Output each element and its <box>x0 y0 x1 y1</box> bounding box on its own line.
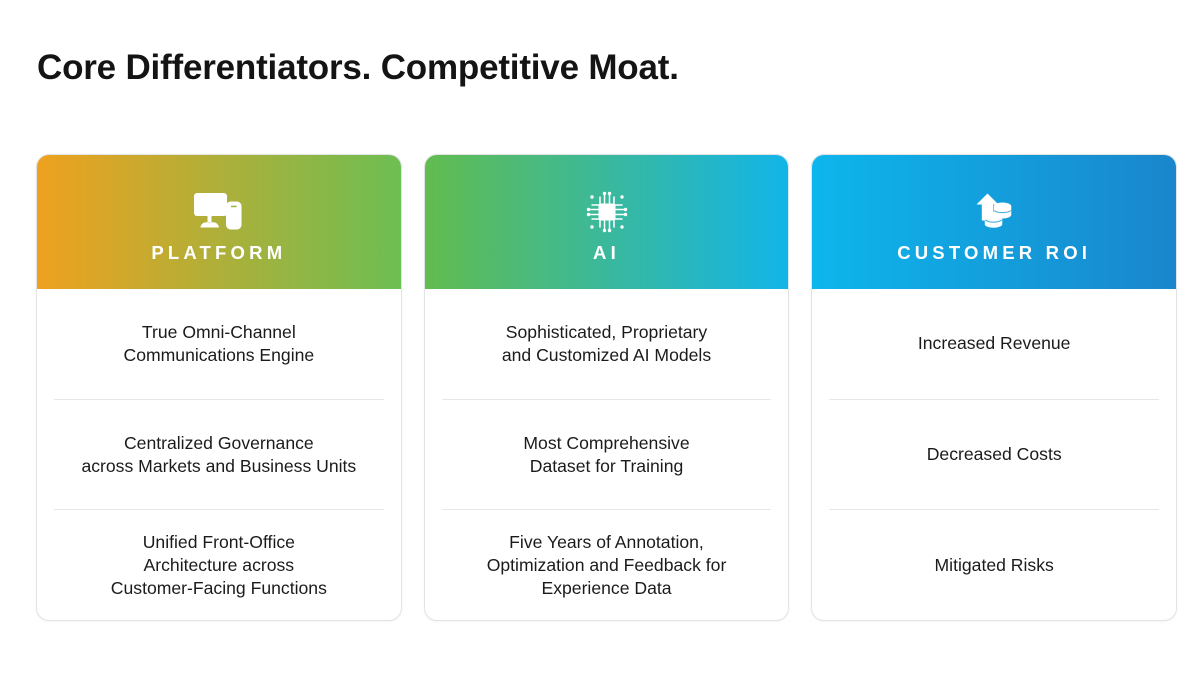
card-platform-body: True Omni-ChannelCommunications Engine C… <box>37 289 401 620</box>
card-platform-item-3-text: Unified Front-OfficeArchitecture acrossC… <box>111 531 327 600</box>
card-platform[interactable]: PLATFORM True Omni-ChannelCommunications… <box>36 154 402 621</box>
card-platform-item-1: True Omni-ChannelCommunications Engine <box>54 289 384 399</box>
card-customer-roi-item-3-text: Mitigated Risks <box>935 554 1054 577</box>
card-platform-item-1-text: True Omni-ChannelCommunications Engine <box>123 321 314 367</box>
microchip-ai-icon <box>584 189 630 235</box>
card-customer-roi-item-2-text: Decreased Costs <box>927 443 1062 466</box>
card-ai-body: Sophisticated, Proprietaryand Customized… <box>425 289 789 620</box>
card-customer-roi-header: CUSTOMER ROI <box>812 155 1176 289</box>
desktop-mobile-devices-icon <box>192 189 246 235</box>
slide-canvas: Core Differentiators. Competitive Moat. <box>0 0 1200 675</box>
card-customer-roi-item-1: Increased Revenue <box>829 289 1159 399</box>
differentiator-card-row: PLATFORM True Omni-ChannelCommunications… <box>36 154 1177 621</box>
card-ai-item-2-text: Most ComprehensiveDataset for Training <box>523 432 689 478</box>
card-platform-header: PLATFORM <box>37 155 401 289</box>
card-customer-roi[interactable]: CUSTOMER ROI Increased Revenue Decreased… <box>811 154 1177 621</box>
card-ai-item-1-text: Sophisticated, Proprietaryand Customized… <box>502 321 711 367</box>
card-ai-label: AI <box>593 244 620 263</box>
card-platform-item-2-text: Centralized Governanceacross Markets and… <box>81 432 356 478</box>
card-customer-roi-item-1-text: Increased Revenue <box>918 332 1071 355</box>
card-platform-item-3: Unified Front-OfficeArchitecture acrossC… <box>54 509 384 620</box>
card-ai[interactable]: AI Sophisticated, Proprietaryand Customi… <box>424 154 790 621</box>
card-ai-item-3-text: Five Years of Annotation,Optimization an… <box>487 531 727 600</box>
arrow-up-coins-roi-icon <box>971 189 1017 235</box>
card-ai-item-3: Five Years of Annotation,Optimization an… <box>442 509 772 620</box>
card-ai-item-2: Most ComprehensiveDataset for Training <box>442 399 772 510</box>
page-title: Core Differentiators. Competitive Moat. <box>37 48 679 88</box>
card-customer-roi-body: Increased Revenue Decreased Costs Mitiga… <box>812 289 1176 620</box>
card-customer-roi-item-3: Mitigated Risks <box>829 509 1159 620</box>
card-ai-header: AI <box>425 155 789 289</box>
card-customer-roi-item-2: Decreased Costs <box>829 399 1159 510</box>
card-customer-roi-label: CUSTOMER ROI <box>897 244 1091 263</box>
card-platform-label: PLATFORM <box>151 244 286 263</box>
card-ai-item-1: Sophisticated, Proprietaryand Customized… <box>442 289 772 399</box>
card-platform-item-2: Centralized Governanceacross Markets and… <box>54 399 384 510</box>
